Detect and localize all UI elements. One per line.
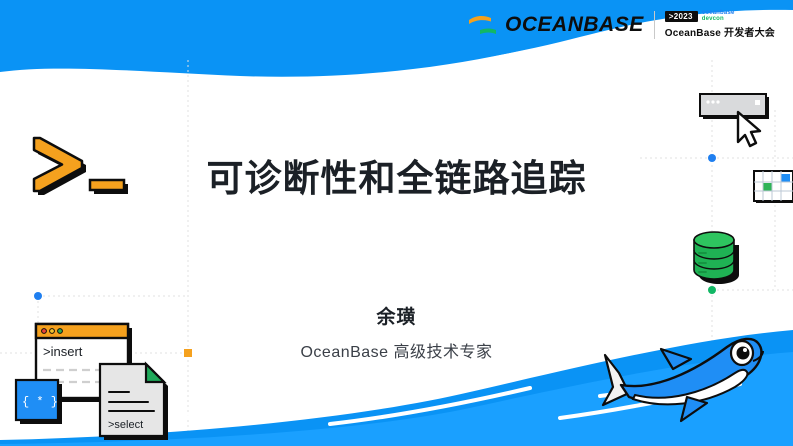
devcon-line-2: devcon [702,16,735,22]
speaker-role: OceanBase 高级技术专家 [0,338,793,362]
oceanbase-wordmark: OCEANBASE [505,13,644,37]
event-branding: >2023 oceanbase devcon OceanBase 开发者大会 [665,10,775,39]
devcon-sublogo: oceanbase devcon [702,10,735,22]
event-year-badge: >2023 [665,11,698,22]
presentation-slide: OCEANBASE >2023 oceanbase devcon OceanBa… [0,0,793,446]
event-name: OceanBase 开发者大会 [665,24,775,39]
gray-window-bar-icon [700,94,769,119]
database-cylinder-icon [686,228,748,284]
select-label: >select [108,419,143,431]
document-page-icon: >select [100,364,168,440]
oceanbase-wave-logo-icon [468,14,498,36]
code-braces-tile-icon: { * } [16,380,62,424]
brand-header: OCEANBASE >2023 oceanbase devcon OceanBa… [468,10,775,39]
page-title: 可诊断性和全链路追踪 [0,148,793,202]
speaker-name: 余璜 [0,302,793,329]
oceanbase-logo: OCEANBASE [468,13,644,37]
brand-divider [654,11,655,39]
code-braces-label: { * } [22,395,58,409]
